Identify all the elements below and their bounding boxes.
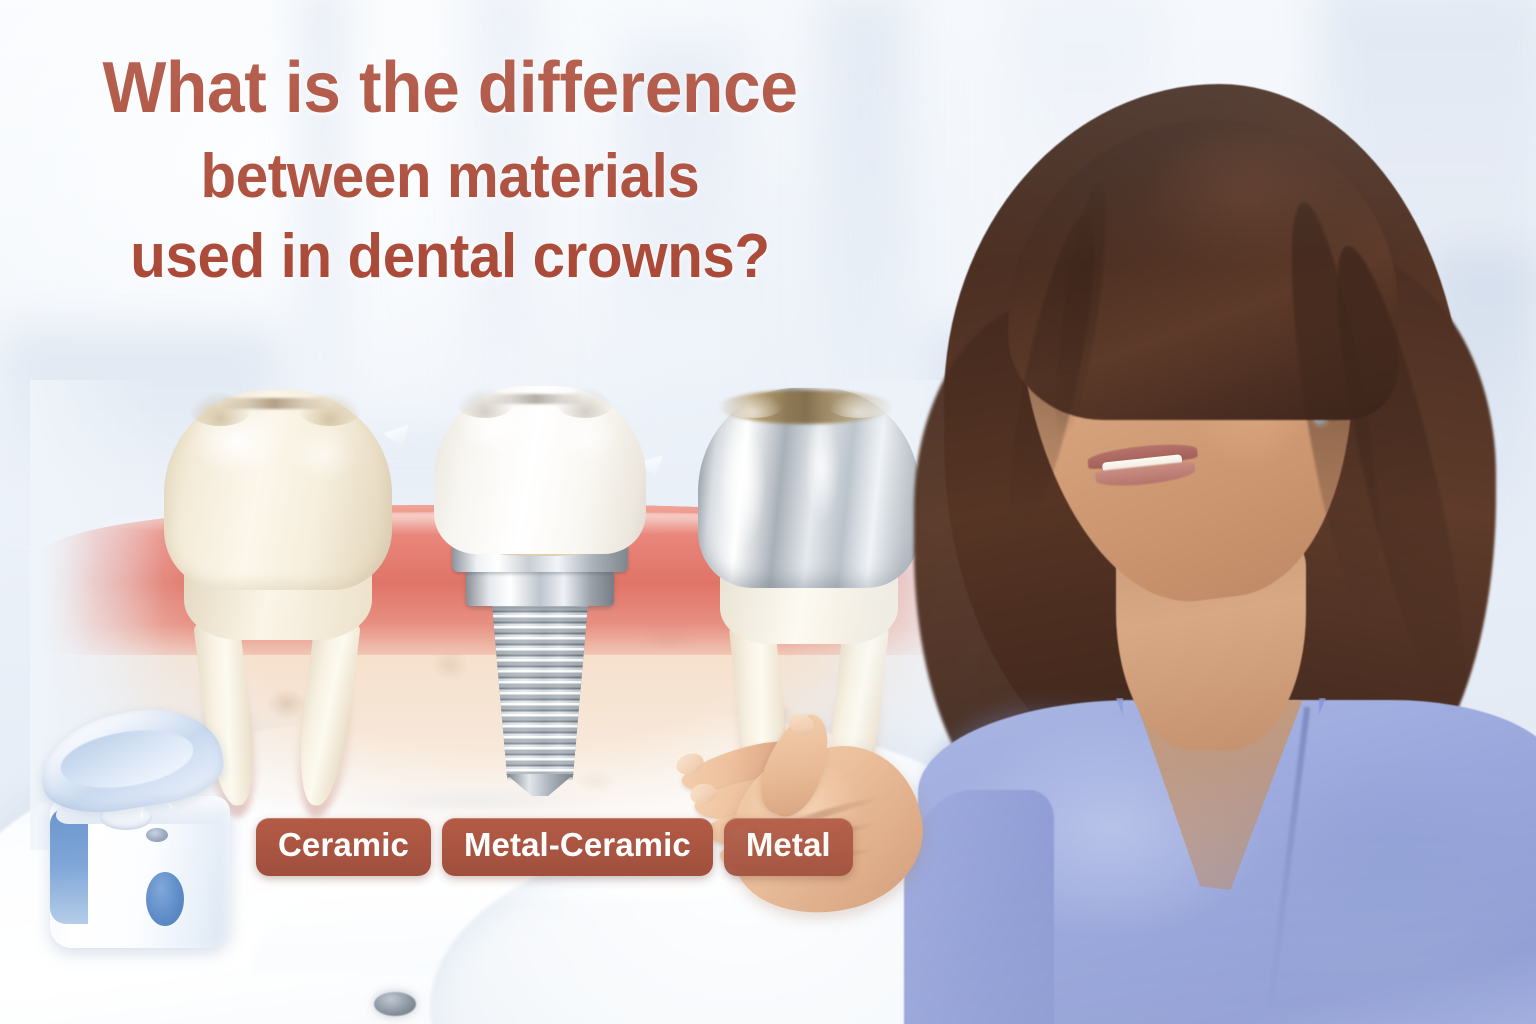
badge-ceramic[interactable]: Ceramic <box>256 818 431 876</box>
material-badge-group: Ceramic Metal-Ceramic Metal <box>256 818 853 876</box>
banner-canvas: What is the difference between materials… <box>0 0 1536 1024</box>
sink-drain <box>374 992 416 1016</box>
badge-metal-ceramic[interactable]: Metal-Ceramic <box>442 818 713 876</box>
badge-metal[interactable]: Metal <box>724 818 853 876</box>
headline-line-1: What is the difference <box>27 52 873 124</box>
floss-container-side-panel <box>50 808 88 924</box>
tooth-implant-metal-ceramic <box>430 386 650 816</box>
headline-line-3: used in dental crowns? <box>27 226 873 288</box>
floss-container-logo-oval <box>146 872 184 926</box>
headline-line-2: between materials <box>27 146 873 208</box>
page-title: What is the difference between materials… <box>0 52 900 288</box>
implant-screw <box>492 604 588 780</box>
implant-screw-tip <box>506 774 574 796</box>
dental-floss-container <box>34 712 246 956</box>
implant-abutment-lower <box>466 570 614 606</box>
floss-cutter <box>146 828 168 842</box>
